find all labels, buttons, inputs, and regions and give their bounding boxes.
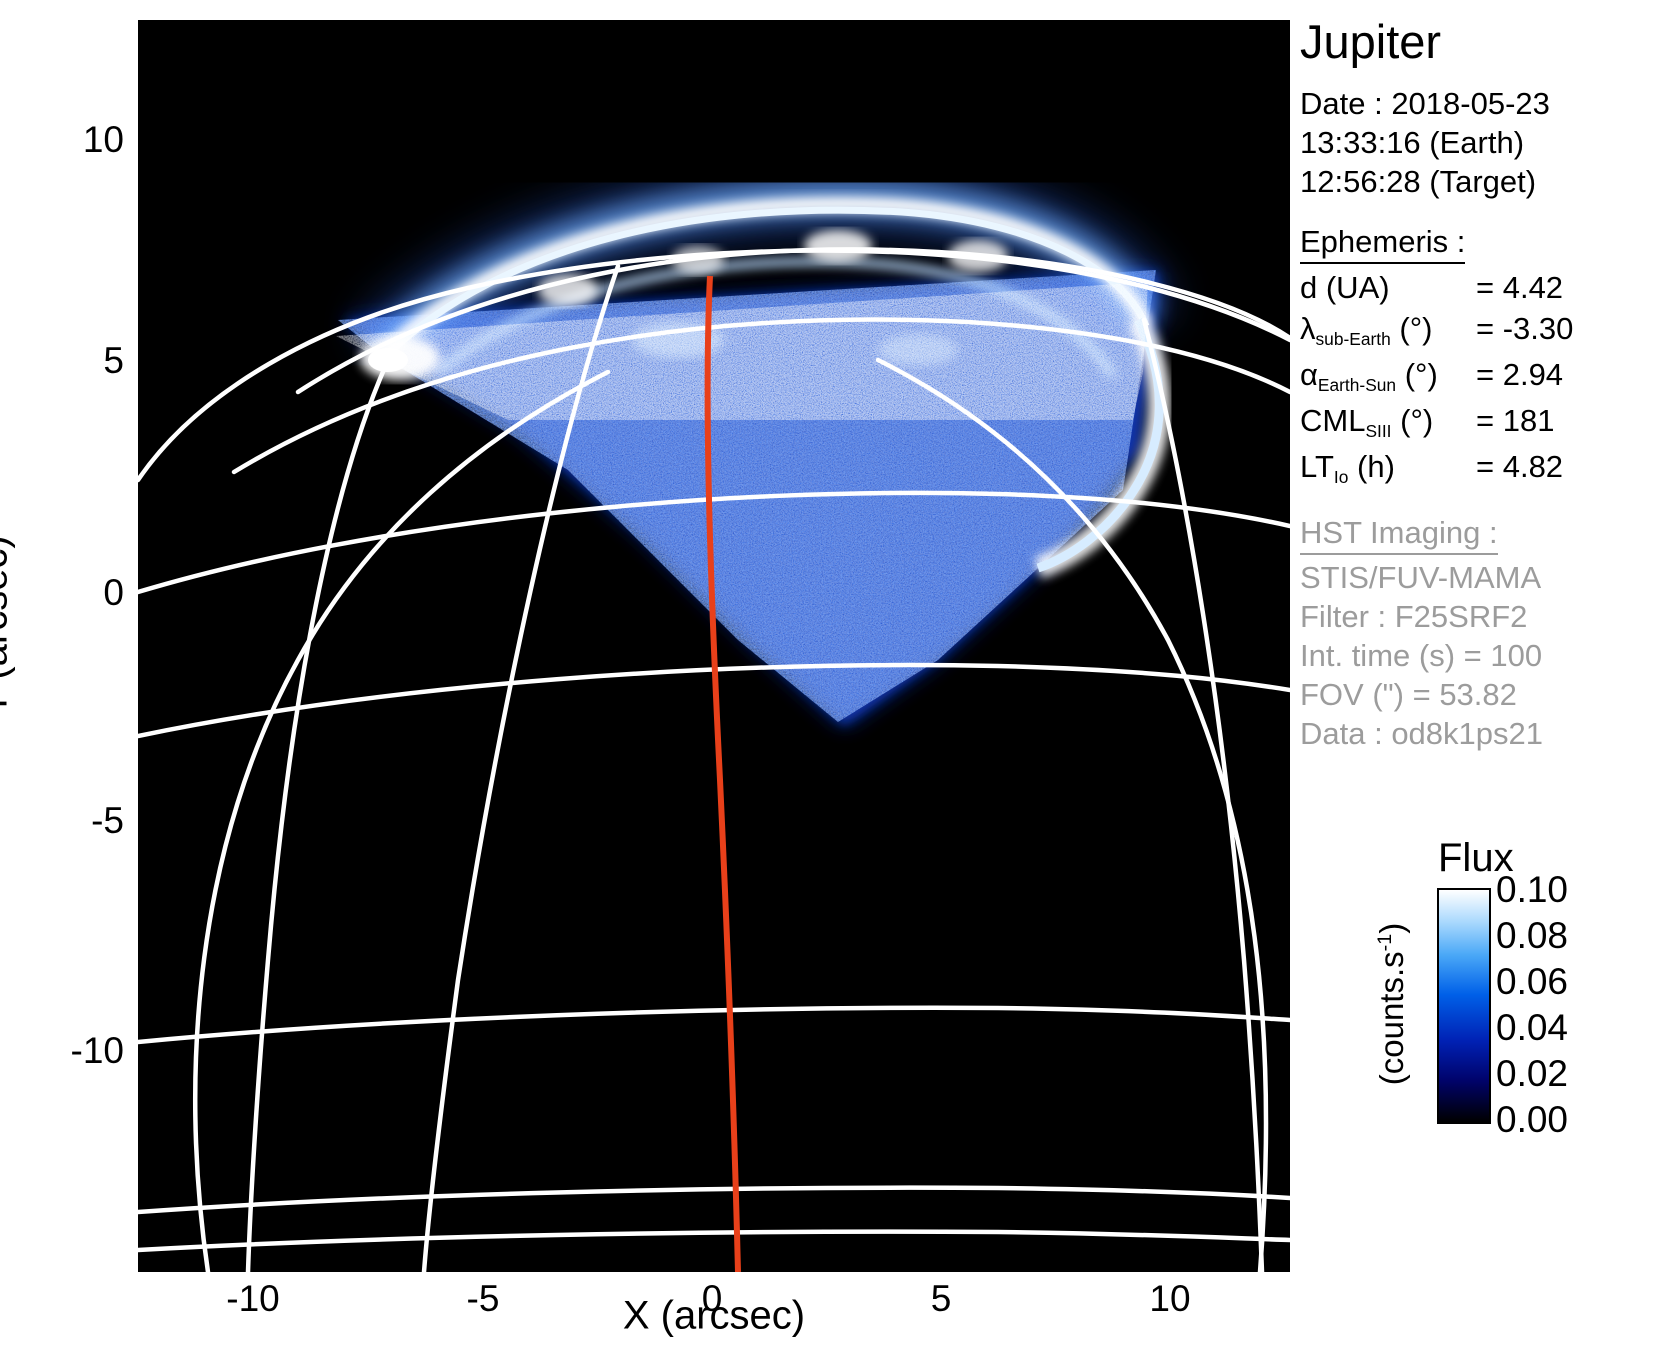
- hst-instrument: STIS/FUV-MAMA: [1300, 558, 1676, 597]
- info-panel: Jupiter Date : 2018-05-23 13:33:16 (Eart…: [1300, 14, 1676, 753]
- ephemeris-value-alpha: = 2.94: [1476, 354, 1563, 400]
- y-tick-10: 10: [0, 119, 124, 161]
- observation-date: Date : 2018-05-23: [1300, 84, 1676, 123]
- ephemeris-unit-lambda: (°): [1399, 311, 1432, 346]
- observation-time-earth: 13:33:16 (Earth): [1300, 123, 1676, 162]
- ephemeris-symbol-lt: LT: [1300, 449, 1334, 484]
- ephemeris-sub-alpha: Earth-Sun: [1318, 375, 1396, 395]
- colorbar-tick-004: 0.04: [1496, 1007, 1568, 1049]
- ephemeris-sub-cml: SIII: [1365, 421, 1391, 441]
- ephemeris-value-lt: = 4.82: [1476, 446, 1563, 492]
- hst-dataset-id: Data : od8k1ps21: [1300, 714, 1676, 753]
- ephemeris-row-cml: CMLSIII (°) = 181: [1300, 400, 1676, 446]
- ephemeris-sub-lt: Io: [1334, 467, 1348, 487]
- x-tick-m5: -5: [467, 1278, 500, 1320]
- ephemeris-row-lt: LTIo (h) = 4.82: [1300, 446, 1676, 492]
- colorbar-unit-post: ): [1373, 923, 1410, 934]
- ephemeris-value-d: = 4.42: [1476, 267, 1563, 308]
- ephemeris-sub-lambda: sub-Earth: [1316, 329, 1391, 349]
- colorbar-tick-000: 0.00: [1496, 1099, 1568, 1141]
- colorbar-tick-008: 0.08: [1496, 915, 1568, 957]
- colorbar-axis-label: (counts.s-1): [1373, 923, 1411, 1085]
- target-title: Jupiter: [1300, 14, 1676, 70]
- colorbar-tick-006: 0.06: [1496, 961, 1568, 1003]
- hst-fov: FOV (") = 53.82: [1300, 675, 1676, 714]
- y-axis-label: Y (arcsec): [0, 535, 17, 717]
- colorbar-unit-exponent: -1: [1374, 934, 1396, 952]
- ephemeris-value-cml: = 181: [1476, 400, 1554, 446]
- ephemeris-row-lambda: λsub-Earth (°) = -3.30: [1300, 308, 1676, 354]
- colorbar-tick-010: 0.10: [1496, 869, 1568, 911]
- hst-imaging-block: HST Imaging : STIS/FUV-MAMA Filter : F25…: [1300, 514, 1676, 753]
- ephemeris-symbol-d: d (UA): [1300, 270, 1390, 305]
- ephemeris-unit-alpha: (°): [1405, 357, 1438, 392]
- ephemeris-unit-cml: (°): [1400, 403, 1433, 438]
- ephemeris-value-lambda: = -3.30: [1476, 308, 1573, 354]
- hst-filter: Filter : F25SRF2: [1300, 597, 1676, 636]
- y-tick-m10: -10: [0, 1030, 124, 1072]
- aurora-image-plot: [138, 20, 1290, 1272]
- x-tick-5: 5: [931, 1278, 952, 1320]
- ephemeris-row-distance: d (UA) = 4.42: [1300, 267, 1676, 308]
- y-tick-5: 5: [0, 340, 124, 382]
- hst-heading: HST Imaging :: [1300, 514, 1498, 555]
- y-tick-0: 0: [0, 572, 124, 614]
- ephemeris-symbol-alpha: α: [1300, 357, 1318, 392]
- x-tick-m10: -10: [226, 1278, 279, 1320]
- colorbar-unit-pre: (counts.s: [1373, 951, 1410, 1085]
- ephemeris-symbol-cml: CML: [1300, 403, 1365, 438]
- ephemeris-row-alpha: αEarth-Sun (°) = 2.94: [1300, 354, 1676, 400]
- ephemeris-block: Ephemeris : d (UA) = 4.42 λsub-Earth (°)…: [1300, 223, 1676, 492]
- y-tick-m5: -5: [0, 800, 124, 842]
- colorbar-tick-002: 0.02: [1496, 1053, 1568, 1095]
- x-tick-10: 10: [1149, 1278, 1190, 1320]
- plot-svg: [138, 20, 1290, 1272]
- ephemeris-symbol-lambda: λ: [1300, 311, 1316, 346]
- hst-integration-time: Int. time (s) = 100: [1300, 636, 1676, 675]
- observation-time-target: 12:56:28 (Target): [1300, 162, 1676, 201]
- figure-root: 10 5 0 -5 -10 Y (arcsec) -10 -5 0 5 10 X…: [0, 0, 1676, 1367]
- ephemeris-unit-lt: (h): [1357, 449, 1395, 484]
- colorbar-gradient: [1437, 888, 1491, 1124]
- x-axis-label: X (arcsec): [623, 1294, 805, 1339]
- ephemeris-heading: Ephemeris :: [1300, 223, 1465, 264]
